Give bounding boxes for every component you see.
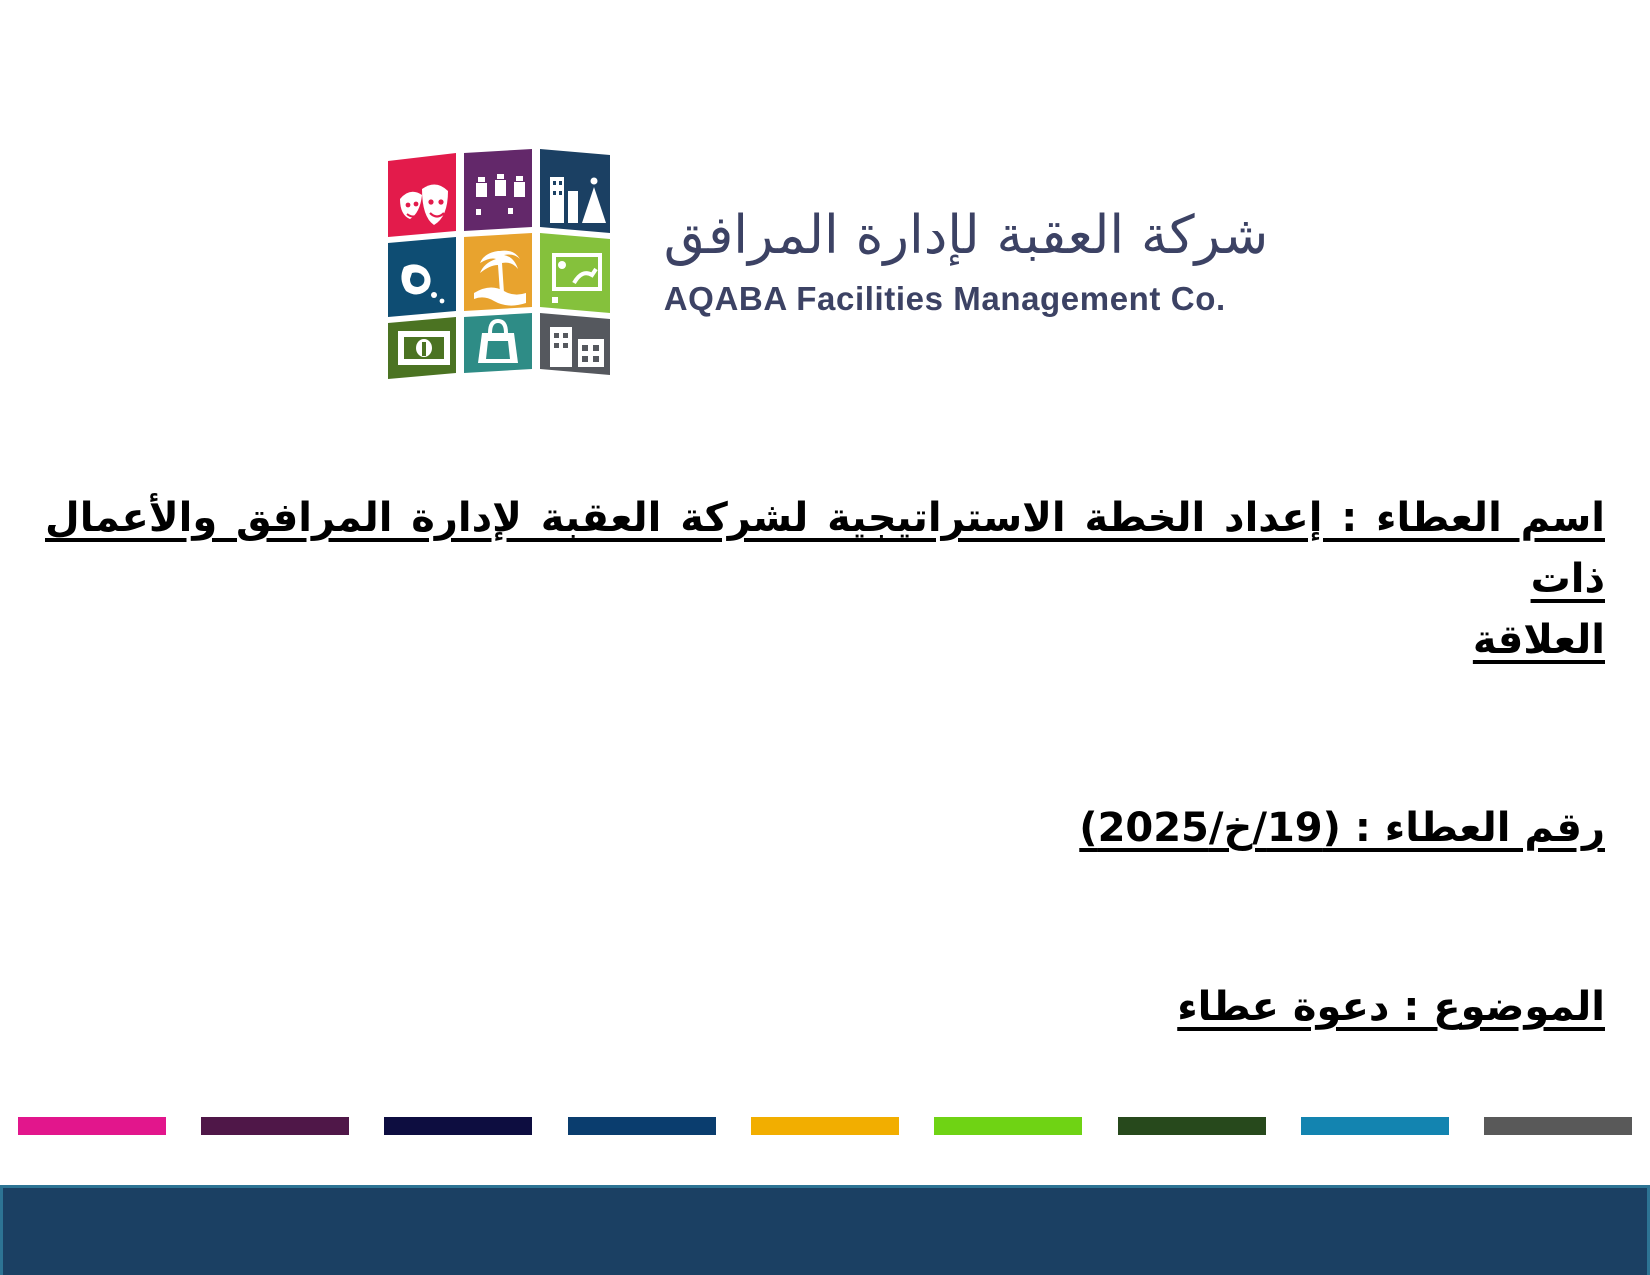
strip-gray bbox=[1467, 1117, 1650, 1135]
strip-bright-green-bar bbox=[934, 1117, 1082, 1135]
strip-navy bbox=[550, 1117, 733, 1135]
strip-navy-bar bbox=[568, 1117, 716, 1135]
footer-band bbox=[0, 1185, 1650, 1275]
strip-teal-blue bbox=[1283, 1117, 1466, 1135]
tender-name-line-1: اسم العطاء : إعداد الخطة الاستراتيجية لش… bbox=[45, 488, 1605, 610]
tender-subject: الموضوع : دعوة عطاء bbox=[45, 977, 1605, 1038]
company-name-english: AQABA Facilities Management Co. bbox=[664, 278, 1226, 321]
decorative-color-strip bbox=[0, 1117, 1650, 1135]
strip-magenta bbox=[0, 1117, 183, 1135]
strip-midnight bbox=[367, 1117, 550, 1135]
company-name-arabic: شركة العقبة لإدارة المرافق bbox=[664, 205, 1269, 268]
strip-purple bbox=[183, 1117, 366, 1135]
strip-gray-bar bbox=[1484, 1117, 1632, 1135]
tender-details: اسم العطاء : إعداد الخطة الاستراتيجية لش… bbox=[45, 488, 1605, 1038]
spacer-after-name bbox=[45, 670, 1605, 798]
strip-midnight-bar bbox=[384, 1117, 532, 1135]
strip-dark-green-bar bbox=[1118, 1117, 1266, 1135]
strip-purple-bar bbox=[201, 1117, 349, 1135]
company-wordmark: شركة العقبة لإدارة المرافق AQABA Facilit… bbox=[664, 205, 1269, 320]
spacer-after-number bbox=[45, 859, 1605, 977]
strip-dark-green bbox=[1100, 1117, 1283, 1135]
strip-bright-green bbox=[917, 1117, 1100, 1135]
tender-number: رقم العطاء : (19/خ/2025) bbox=[45, 798, 1605, 859]
strip-teal-blue-bar bbox=[1301, 1117, 1449, 1135]
strip-amber-bar bbox=[751, 1117, 899, 1135]
aqaba-fm-mosaic-logo-icon bbox=[382, 147, 620, 379]
slide-canvas: شركة العقبة لإدارة المرافق AQABA Facilit… bbox=[0, 0, 1650, 1275]
tender-name-line-2: العلاقة bbox=[45, 610, 1605, 671]
company-logo-block: شركة العقبة لإدارة المرافق AQABA Facilit… bbox=[0, 138, 1650, 388]
strip-magenta-bar bbox=[18, 1117, 166, 1135]
strip-amber bbox=[733, 1117, 916, 1135]
